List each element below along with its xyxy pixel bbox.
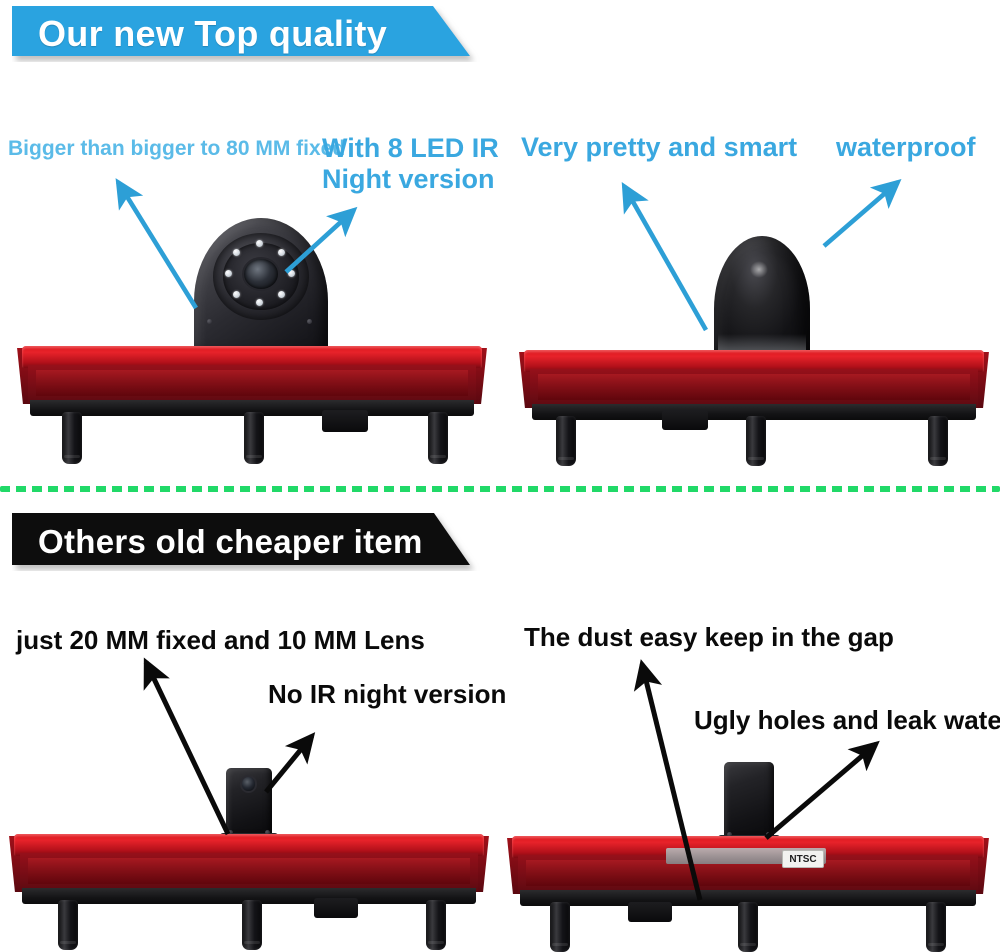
ir-led — [233, 291, 240, 298]
ir-led — [225, 270, 232, 277]
mounting-post — [242, 900, 262, 950]
old-camera-box — [226, 768, 272, 838]
old-camera-box-gap — [724, 762, 774, 840]
mounting-post — [428, 412, 448, 464]
new-camera-rear-dome — [714, 236, 810, 362]
product-old-camera-right: NTSC — [512, 762, 984, 952]
wire-connector — [628, 902, 672, 922]
bottom-banner-label: Others old cheaper item — [12, 523, 423, 561]
ir-led — [288, 270, 295, 277]
mounting-post — [926, 902, 946, 952]
annotation-dust-easy-keep-in-gap: The dust easy keep in the gap — [524, 622, 894, 652]
annotation-bigger-than-bigger: Bigger than bigger to 80 MM fixed — [8, 137, 345, 161]
brake-light-bar — [512, 836, 984, 908]
annotation-waterproof: waterproof — [836, 132, 976, 163]
annotation-ugly-holes-leak-water: Ugly holes and leak water — [694, 705, 1000, 735]
annotation-no-ir-night-version: No IR night version — [268, 679, 506, 709]
bottom-section-banner: Others old cheaper item — [12, 513, 482, 571]
ntsc-sticker: NTSC — [782, 850, 824, 868]
mounting-post — [550, 902, 570, 952]
mounting-post — [746, 416, 766, 466]
product-new-camera-right — [524, 230, 984, 465]
product-new-camera-left — [22, 218, 482, 463]
wire-connector — [662, 410, 708, 430]
mounting-post — [738, 902, 758, 952]
wire-connector — [314, 898, 358, 918]
brake-light-bar — [14, 834, 484, 906]
bar-inner-reflector — [28, 858, 470, 884]
infographic-canvas: Our new Top quality — [0, 0, 1000, 952]
mounting-post — [58, 900, 78, 950]
mounting-post — [426, 900, 446, 950]
old-camera-body — [724, 762, 774, 840]
ir-led — [233, 249, 240, 256]
brake-light-bar — [524, 350, 984, 422]
annotation-very-pretty-and-smart: Very pretty and smart — [521, 132, 797, 163]
new-camera-front-housing — [194, 218, 328, 358]
product-old-camera-left — [14, 768, 484, 952]
bar-inner-reflector — [36, 370, 468, 396]
annotation-with-8-led-ir: With 8 LED IR Night version — [322, 133, 499, 196]
mounting-post — [556, 416, 576, 466]
section-divider-dashed — [0, 486, 1000, 492]
brake-light-bar — [22, 346, 482, 418]
mounting-post — [62, 412, 82, 464]
ir-led — [256, 299, 263, 306]
mounting-post — [244, 412, 264, 464]
annotation-just-20mm-fixed: just 20 MM fixed and 10 MM Lens — [16, 625, 425, 655]
ntsc-sticker-label: NTSC — [789, 854, 816, 865]
bar-inner-reflector — [538, 374, 970, 400]
top-banner-label: Our new Top quality — [12, 13, 387, 55]
mounting-post — [928, 416, 948, 466]
housing-screw — [307, 319, 312, 324]
dome-highlight — [750, 261, 767, 277]
wire-connector — [322, 410, 368, 432]
top-section-banner: Our new Top quality — [12, 6, 482, 62]
